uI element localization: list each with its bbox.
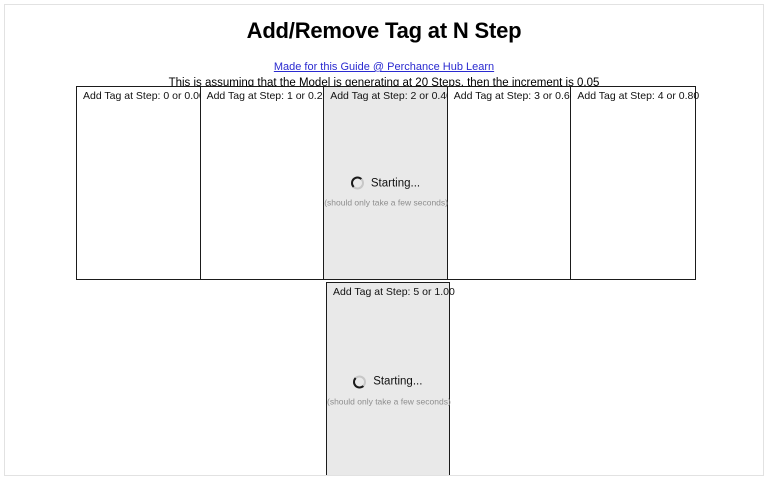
loading-status-text: Starting... — [371, 177, 420, 189]
loading-indicator-step-2: Starting... (should only take a few seco… — [324, 177, 447, 208]
panel-header-step-3: Add Tag at Step: 3 or 0.60 — [448, 87, 571, 106]
panel-header-step-1: Add Tag at Step: 1 or 0.20 — [201, 87, 324, 106]
page-frame: Add/Remove Tag at N Step Made for this G… — [4, 4, 764, 476]
panel-step-0[interactable]: Add Tag at Step: 0 or 0.00 — [77, 87, 201, 279]
spinner-icon — [351, 177, 364, 190]
panel-header-step-4: Add Tag at Step: 4 or 0.80 — [571, 87, 695, 106]
panel-step-2[interactable]: Add Tag at Step: 2 or 0.40 Starting... (… — [324, 87, 448, 279]
loading-hint-text: (should only take a few seconds) — [327, 396, 449, 406]
panel-step-3[interactable]: Add Tag at Step: 3 or 0.60 — [448, 87, 572, 279]
panel-header-step-5: Add Tag at Step: 5 or 1.00 — [327, 283, 449, 302]
panel-body-step-1 — [201, 106, 324, 279]
guide-link[interactable]: Made for this Guide @ Perchance Hub Lear… — [274, 62, 494, 73]
panel-row-primary: Add Tag at Step: 0 or 0.00 Add Tag at St… — [76, 86, 696, 280]
loading-row-step-5: Starting... — [327, 375, 449, 388]
panel-body-step-5: Starting... (should only take a few seco… — [327, 302, 449, 476]
panel-step-5[interactable]: Add Tag at Step: 5 or 1.00 Starting... (… — [326, 282, 450, 476]
panel-header-step-2: Add Tag at Step: 2 or 0.40 — [324, 87, 447, 106]
loading-hint-text: (should only take a few seconds) — [324, 198, 447, 208]
spinner-icon — [353, 375, 366, 388]
panel-body-step-2: Starting... (should only take a few seco… — [324, 106, 447, 279]
panel-step-4[interactable]: Add Tag at Step: 4 or 0.80 — [571, 87, 695, 279]
loading-status-text: Starting... — [373, 376, 422, 388]
panel-body-step-0 — [77, 106, 200, 279]
panel-header-step-0: Add Tag at Step: 0 or 0.00 — [77, 87, 200, 106]
page-title: Add/Remove Tag at N Step — [5, 18, 763, 44]
panel-body-step-3 — [448, 106, 571, 279]
loading-indicator-step-5: Starting... (should only take a few seco… — [327, 375, 449, 406]
subheader: Made for this Guide @ Perchance Hub Lear… — [5, 58, 763, 90]
panel-body-step-4 — [571, 106, 695, 279]
loading-row-step-2: Starting... — [324, 177, 447, 190]
panel-step-1[interactable]: Add Tag at Step: 1 or 0.20 — [201, 87, 325, 279]
